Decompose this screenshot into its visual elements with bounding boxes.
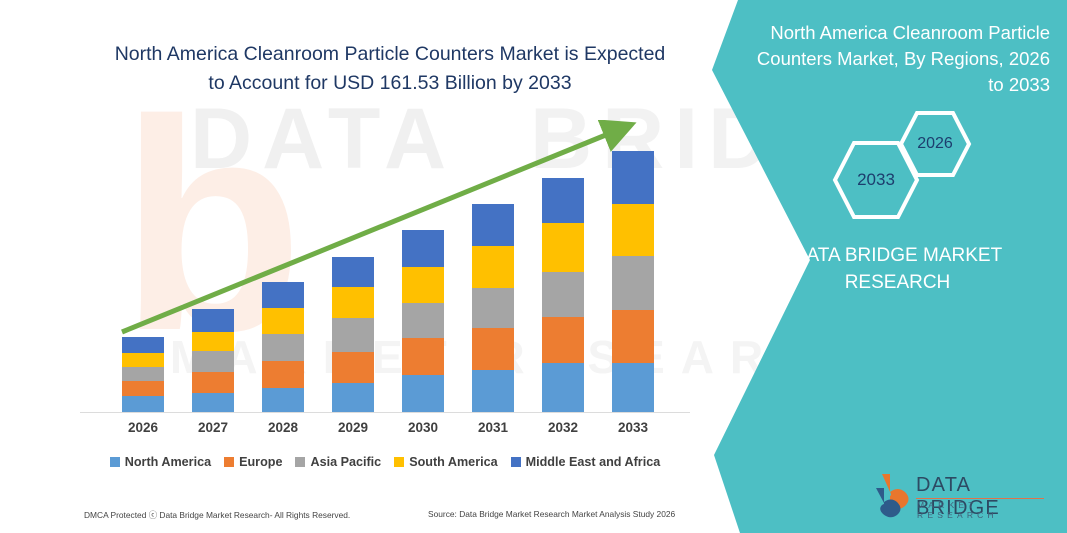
bar-segment bbox=[612, 256, 654, 310]
hexagon-badge-2026-label: 2026 bbox=[917, 135, 953, 153]
bar-segment bbox=[192, 332, 234, 351]
bar-segment bbox=[262, 282, 304, 308]
data-bridge-logo: DATA BRIDGE MARKET RESEARCH bbox=[872, 472, 1047, 518]
x-axis-labels: 20262027202820292030203120322033 bbox=[80, 420, 690, 444]
legend-label: Europe bbox=[239, 455, 282, 469]
bar-segment bbox=[542, 272, 584, 317]
bar-2028 bbox=[262, 282, 304, 412]
x-axis-label-2032: 2032 bbox=[533, 420, 593, 435]
page-title: North America Cleanroom Particle Counter… bbox=[110, 40, 670, 98]
hexagon-badge-2033-label: 2033 bbox=[857, 170, 895, 190]
bar-segment bbox=[402, 375, 444, 412]
bar-segment bbox=[122, 396, 164, 412]
footer: DMCA Protected ⓒ Data Bridge Market Rese… bbox=[0, 505, 700, 529]
bar-2033 bbox=[612, 151, 654, 412]
footer-source: Source: Data Bridge Market Research Mark… bbox=[428, 509, 675, 519]
legend-item[interactable]: Middle East and Africa bbox=[511, 455, 661, 469]
bar-segment bbox=[262, 388, 304, 412]
bar-2029 bbox=[332, 257, 374, 412]
bar-segment bbox=[402, 267, 444, 303]
legend-swatch-icon bbox=[394, 457, 404, 467]
bar-2027 bbox=[192, 309, 234, 412]
legend-swatch-icon bbox=[110, 457, 120, 467]
bar-segment bbox=[472, 204, 514, 246]
x-axis-label-2026: 2026 bbox=[113, 420, 173, 435]
bar-segment bbox=[402, 338, 444, 375]
bar-segment bbox=[612, 151, 654, 204]
x-axis-label-2033: 2033 bbox=[603, 420, 663, 435]
legend-item[interactable]: Asia Pacific bbox=[295, 455, 381, 469]
x-axis-label-2029: 2029 bbox=[323, 420, 383, 435]
bar-2030 bbox=[402, 230, 444, 412]
legend-item[interactable]: South America bbox=[394, 455, 497, 469]
bar-2032 bbox=[542, 178, 584, 412]
legend-item[interactable]: Europe bbox=[224, 455, 282, 469]
bar-segment bbox=[472, 246, 514, 288]
bar-segment bbox=[192, 372, 234, 393]
bar-segment bbox=[332, 383, 374, 412]
bar-segment bbox=[542, 223, 584, 272]
stacked-bar-chart: 20262027202820292030203120322033 bbox=[80, 120, 690, 420]
bar-segment bbox=[262, 361, 304, 388]
chart-plot-area bbox=[80, 120, 690, 412]
bar-segment bbox=[192, 393, 234, 412]
bar-2026 bbox=[122, 337, 164, 412]
bar-segment bbox=[542, 363, 584, 412]
legend-swatch-icon bbox=[295, 457, 305, 467]
legend-swatch-icon bbox=[224, 457, 234, 467]
bar-segment bbox=[402, 303, 444, 338]
bar-segment bbox=[332, 318, 374, 352]
bar-segment bbox=[332, 287, 374, 318]
bar-segment bbox=[332, 257, 374, 287]
panel-title: North America Cleanroom Particle Counter… bbox=[745, 20, 1050, 98]
bar-segment bbox=[472, 328, 514, 370]
logo-divider bbox=[916, 498, 1044, 499]
footer-copyright: DMCA Protected ⓒ Data Bridge Market Rese… bbox=[84, 509, 350, 521]
legend-item[interactable]: North America bbox=[110, 455, 211, 469]
hexagon-badge-2026: 2026 bbox=[898, 110, 972, 178]
bar-segment bbox=[402, 230, 444, 267]
legend-label: North America bbox=[125, 455, 211, 469]
bar-2031 bbox=[472, 204, 514, 412]
x-axis-line bbox=[80, 412, 690, 413]
logo-sub-text: MARKET RESEARCH bbox=[917, 500, 1047, 520]
bar-segment bbox=[122, 367, 164, 381]
legend-swatch-icon bbox=[511, 457, 521, 467]
bar-segment bbox=[542, 317, 584, 363]
bar-segment bbox=[122, 381, 164, 396]
legend-label: Middle East and Africa bbox=[526, 455, 661, 469]
bar-segment bbox=[332, 352, 374, 383]
bar-segment bbox=[542, 178, 584, 223]
bar-segment bbox=[262, 308, 304, 334]
legend-label: Asia Pacific bbox=[310, 455, 381, 469]
bar-segment bbox=[262, 334, 304, 361]
bar-segment bbox=[192, 351, 234, 372]
legend-label: South America bbox=[409, 455, 497, 469]
bar-segment bbox=[472, 370, 514, 412]
x-axis-label-2028: 2028 bbox=[253, 420, 313, 435]
bar-segment bbox=[192, 309, 234, 332]
data-bridge-mark-icon bbox=[872, 472, 916, 518]
panel-brand-text: DATA BRIDGE MARKET RESEARCH bbox=[745, 242, 1050, 296]
bar-segment bbox=[612, 204, 654, 256]
chart-legend: North AmericaEuropeAsia PacificSouth Ame… bbox=[80, 455, 690, 469]
x-axis-label-2027: 2027 bbox=[183, 420, 243, 435]
x-axis-label-2030: 2030 bbox=[393, 420, 453, 435]
infographic-page: b DATA BRIDGE MARKET RESEARCH North Amer… bbox=[0, 0, 1067, 533]
bar-segment bbox=[612, 310, 654, 363]
bar-segment bbox=[472, 288, 514, 328]
bar-segment bbox=[612, 363, 654, 412]
x-axis-label-2031: 2031 bbox=[463, 420, 523, 435]
bar-segment bbox=[122, 337, 164, 353]
bar-segment bbox=[122, 353, 164, 367]
